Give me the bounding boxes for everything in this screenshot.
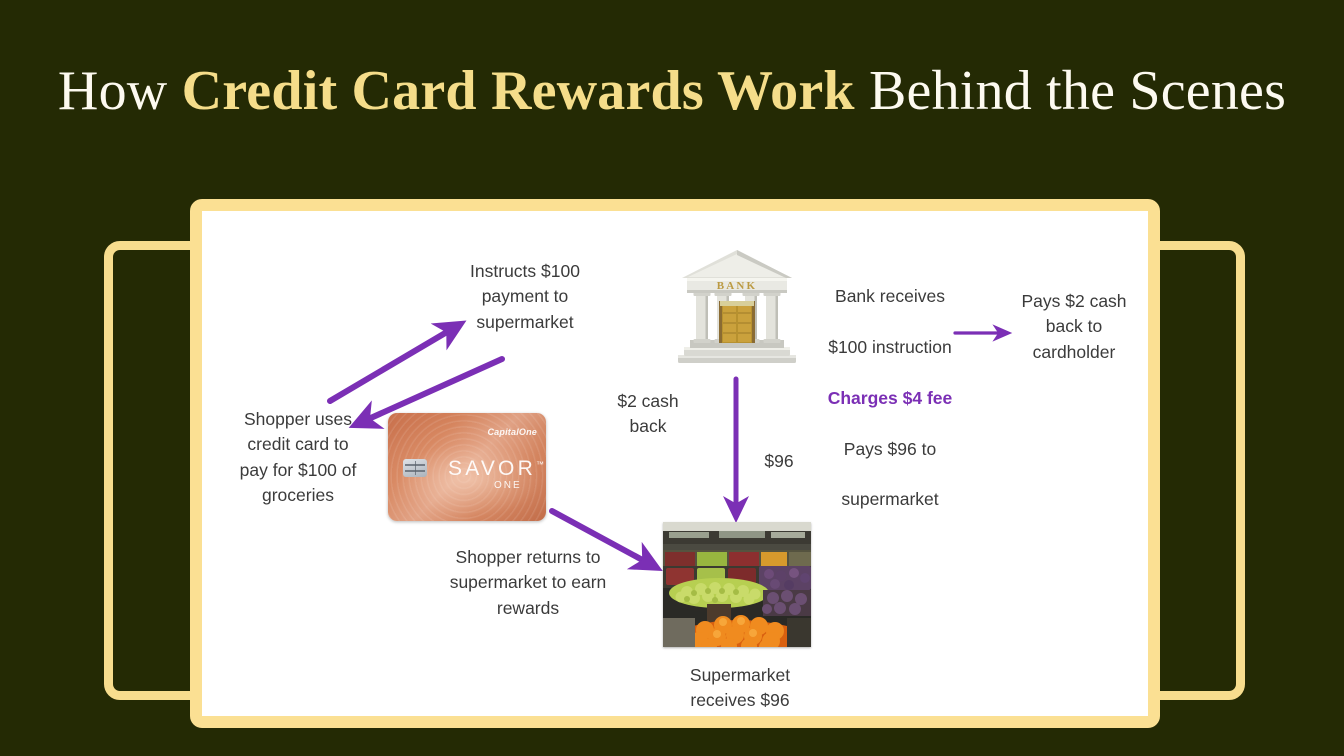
diagram-canvas: BANK SAVOR™ ONE CapitalOne bbox=[202, 211, 1148, 716]
slide-canvas: How Credit Card Rewards Work Behind the … bbox=[0, 0, 1344, 756]
diagram-card: BANK SAVOR™ ONE CapitalOne bbox=[190, 199, 1160, 728]
card-product-tier: ONE bbox=[494, 480, 522, 491]
bank-inscription-text: BANK bbox=[717, 280, 758, 292]
label-instructs-payment: Instructs $100 payment to supermarket bbox=[445, 259, 605, 335]
arrow-card-to-bank bbox=[330, 329, 452, 401]
bank-building-icon: BANK bbox=[676, 247, 798, 369]
bank-receives-line-1: Bank receives bbox=[800, 284, 980, 309]
label-shopper-returns: Shopper returns to supermarket to earn r… bbox=[424, 545, 632, 621]
title-part-1: How bbox=[58, 60, 182, 122]
label-pays-cashback: Pays $2 cash back to cardholder bbox=[1004, 289, 1144, 365]
page-title: How Credit Card Rewards Work Behind the … bbox=[0, 56, 1344, 127]
label-two-cash-back: $2 cash back bbox=[600, 389, 696, 440]
label-charges-fee: Charges $4 fee bbox=[800, 386, 980, 411]
title-part-2: Behind the Scenes bbox=[855, 60, 1286, 122]
bank-receives-line-2: $100 instruction bbox=[800, 335, 980, 360]
label-ninety-six: $96 bbox=[750, 449, 808, 474]
card-brand-logo: CapitalOne bbox=[487, 427, 537, 437]
pays-96-line-1: Pays $96 to bbox=[800, 437, 980, 462]
title-highlight: Credit Card Rewards Work bbox=[182, 60, 855, 122]
supermarket-produce-image bbox=[663, 522, 811, 647]
emv-chip-icon bbox=[403, 459, 427, 477]
arrow-bank-to-card bbox=[364, 359, 502, 421]
credit-card-image: SAVOR™ ONE CapitalOne bbox=[388, 413, 546, 521]
pays-96-line-2: supermarket bbox=[800, 487, 980, 512]
label-supermarket-receives: Supermarket receives $96 bbox=[670, 663, 810, 714]
label-bank-receives: Bank receives $100 instruction Charges $… bbox=[800, 259, 980, 538]
trademark-symbol: ™ bbox=[536, 460, 544, 469]
card-product-name: SAVOR™ bbox=[448, 457, 544, 481]
label-shopper-uses-card: Shopper uses credit card to pay for $100… bbox=[218, 407, 378, 509]
